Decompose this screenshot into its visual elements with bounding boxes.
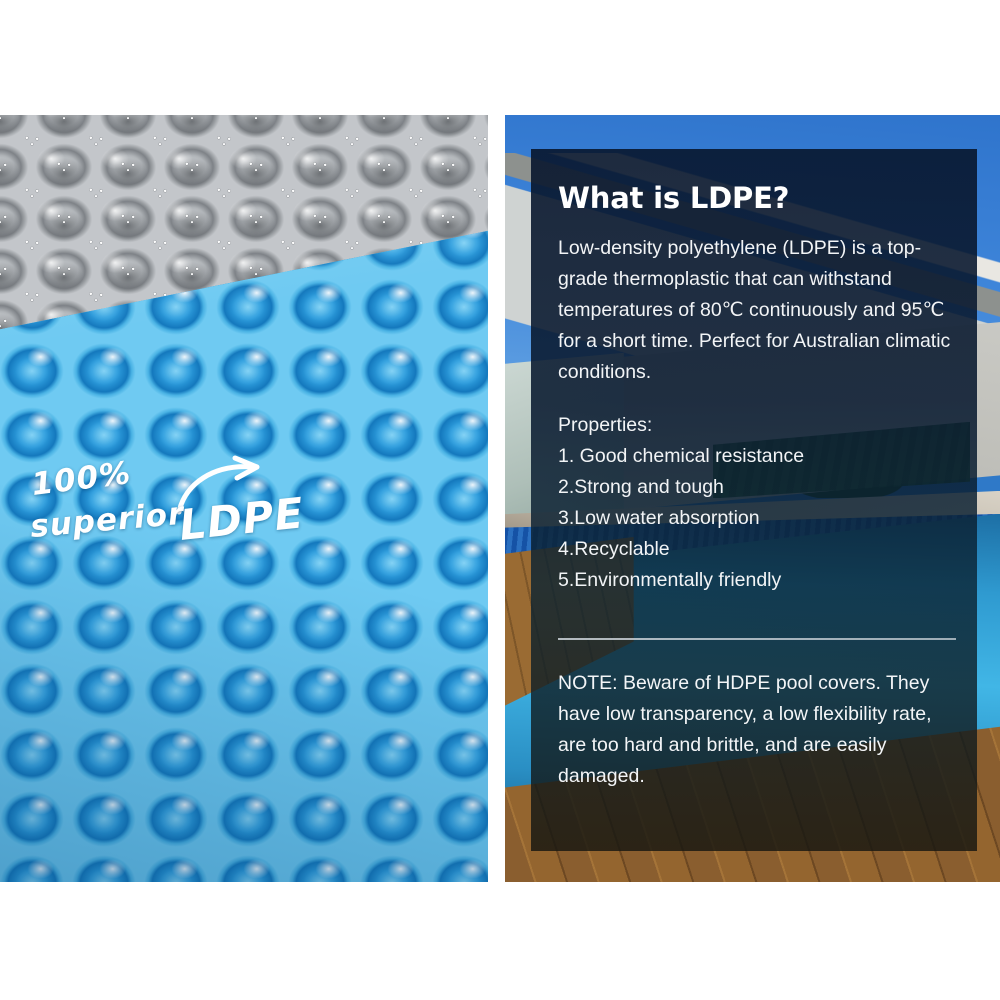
pool-photo-panel: What is LDPE? Low-density polyethylene (… [505, 115, 1000, 882]
list-item: 4.Recyclable [558, 534, 953, 565]
infographic-canvas: 100% superior LDPE What is LDPE? Low-den… [0, 0, 1000, 1000]
handwritten-callout: 100% superior LDPE [32, 467, 362, 575]
ldpe-info-card: What is LDPE? Low-density polyethylene (… [531, 149, 977, 851]
properties-heading: Properties: [558, 410, 953, 441]
ldpe-description: Low-density polyethylene (LDPE) is a top… [558, 233, 953, 388]
section-divider [558, 638, 956, 640]
list-item: 1. Good chemical resistance [558, 441, 953, 472]
ldpe-info-card-content: What is LDPE? Low-density polyethylene (… [558, 181, 953, 792]
callout-superior-text: superior [29, 496, 186, 545]
product-texture-panel: 100% superior LDPE [0, 115, 488, 882]
properties-list: 1. Good chemical resistance 2.Strong and… [558, 441, 953, 596]
list-item: 2.Strong and tough [558, 472, 953, 503]
hdpe-warning-note: NOTE: Beware of HDPE pool covers. They h… [558, 668, 953, 792]
list-item: 5.Environmentally friendly [558, 565, 953, 596]
page-title: What is LDPE? [558, 181, 953, 215]
list-item: 3.Low water absorption [558, 503, 953, 534]
